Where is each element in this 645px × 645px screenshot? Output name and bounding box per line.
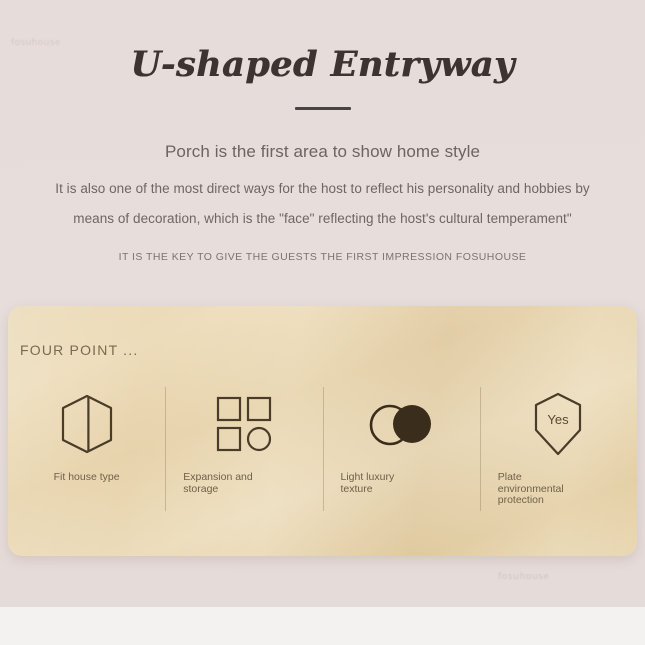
- feature-label-3: Light luxury texture: [323, 472, 480, 495]
- card-heading: FOUR POINT ...: [20, 342, 138, 358]
- two-overlapping-circles-icon: [367, 388, 435, 460]
- feature-label-1: Fit house type: [8, 472, 165, 484]
- feature-label-2: Expansion and storage: [165, 472, 322, 495]
- shield-yes-label: Yes: [548, 412, 570, 427]
- feature-label-2-line-2: storage: [183, 484, 308, 496]
- feature-label-3-line-1: Light luxury: [341, 472, 466, 484]
- feature-columns: Fit house type Expansion and storage: [8, 380, 637, 540]
- body-paragraph-line-2: means of decoration, which is the "face"…: [32, 211, 613, 226]
- four-point-card: FOUR POINT ... Fit house type: [8, 306, 637, 556]
- page-subtitle: Porch is the first area to show home sty…: [0, 142, 645, 162]
- feature-column-light-luxury-texture[interactable]: Light luxury texture: [323, 380, 480, 540]
- feature-column-fit-house-type[interactable]: Fit house type: [8, 380, 165, 540]
- page-root: fosuhouse U-shaped Entryway Porch is the…: [0, 0, 645, 645]
- hexagon-split-icon: [59, 388, 115, 460]
- body-paragraph-line-1: It is also one of the most direct ways f…: [32, 181, 613, 196]
- feature-label-3-line-2: texture: [341, 484, 466, 496]
- feature-column-plate-environmental-protection[interactable]: Yes Plate environmental protection: [480, 380, 637, 540]
- feature-label-2-line-1: Expansion and: [183, 472, 308, 484]
- page-title: U-shaped Entryway: [0, 44, 645, 85]
- feature-label-4-line-1: Plate: [498, 472, 623, 484]
- three-squares-one-circle-icon: [215, 388, 273, 460]
- feature-column-expansion-storage[interactable]: Expansion and storage: [165, 380, 322, 540]
- page-caption: IT IS THE KEY TO GIVE THE GUESTS THE FIR…: [0, 251, 645, 263]
- feature-label-4: Plate environmental protection: [480, 472, 637, 507]
- shield-yes-icon: Yes: [530, 388, 586, 460]
- watermark-bottom-right: fosuhouse: [498, 572, 550, 582]
- title-divider-rule: [295, 107, 351, 110]
- feature-label-4-line-3: protection: [498, 495, 623, 507]
